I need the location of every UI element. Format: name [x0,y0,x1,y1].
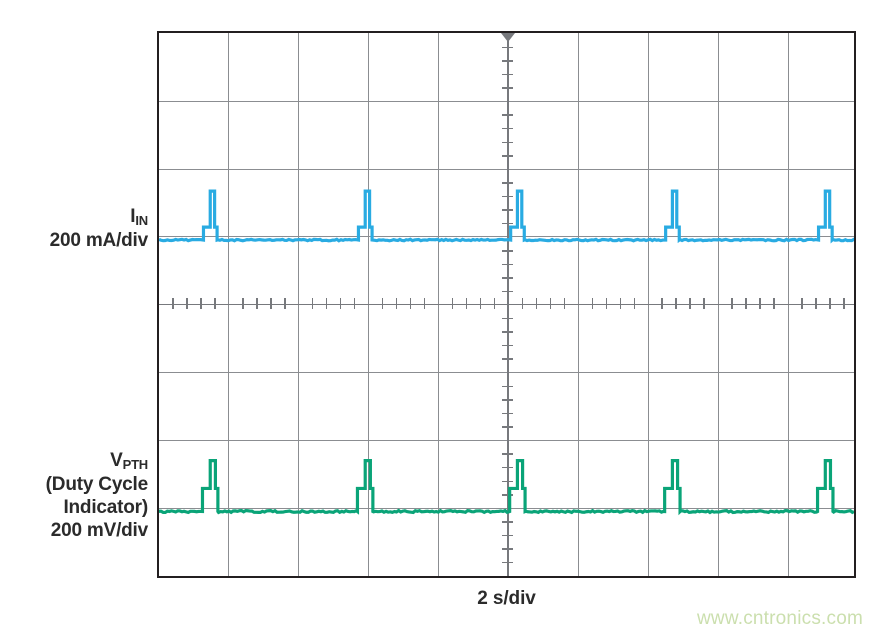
top-trace-signal-name: IIN [0,205,148,229]
top-trace-axis-label: IIN 200 mA/div [0,205,148,252]
waveform-traces [159,33,854,576]
bottom-trace-descriptor-line2: Indicator) [0,496,148,519]
bottom-trace-descriptor-line1: (Duty Cycle [0,473,148,496]
x-axis-scale-label: 2 s/div [157,588,856,610]
top-trace-scale: 200 mA/div [0,229,148,252]
top-trace-waveform [159,191,854,241]
bottom-trace-scale: 200 mV/div [0,519,148,542]
bottom-trace-axis-label: VPTH (Duty Cycle Indicator) 200 mV/div [0,449,148,542]
oscilloscope-graticule [157,31,856,578]
top-trace-line [159,191,854,241]
grid-inner [159,33,854,576]
bottom-trace-signal-name: VPTH [0,449,148,473]
bottom-trace-line [159,461,854,513]
watermark: www.cntronics.com [697,608,863,630]
bottom-trace-waveform [159,461,854,513]
